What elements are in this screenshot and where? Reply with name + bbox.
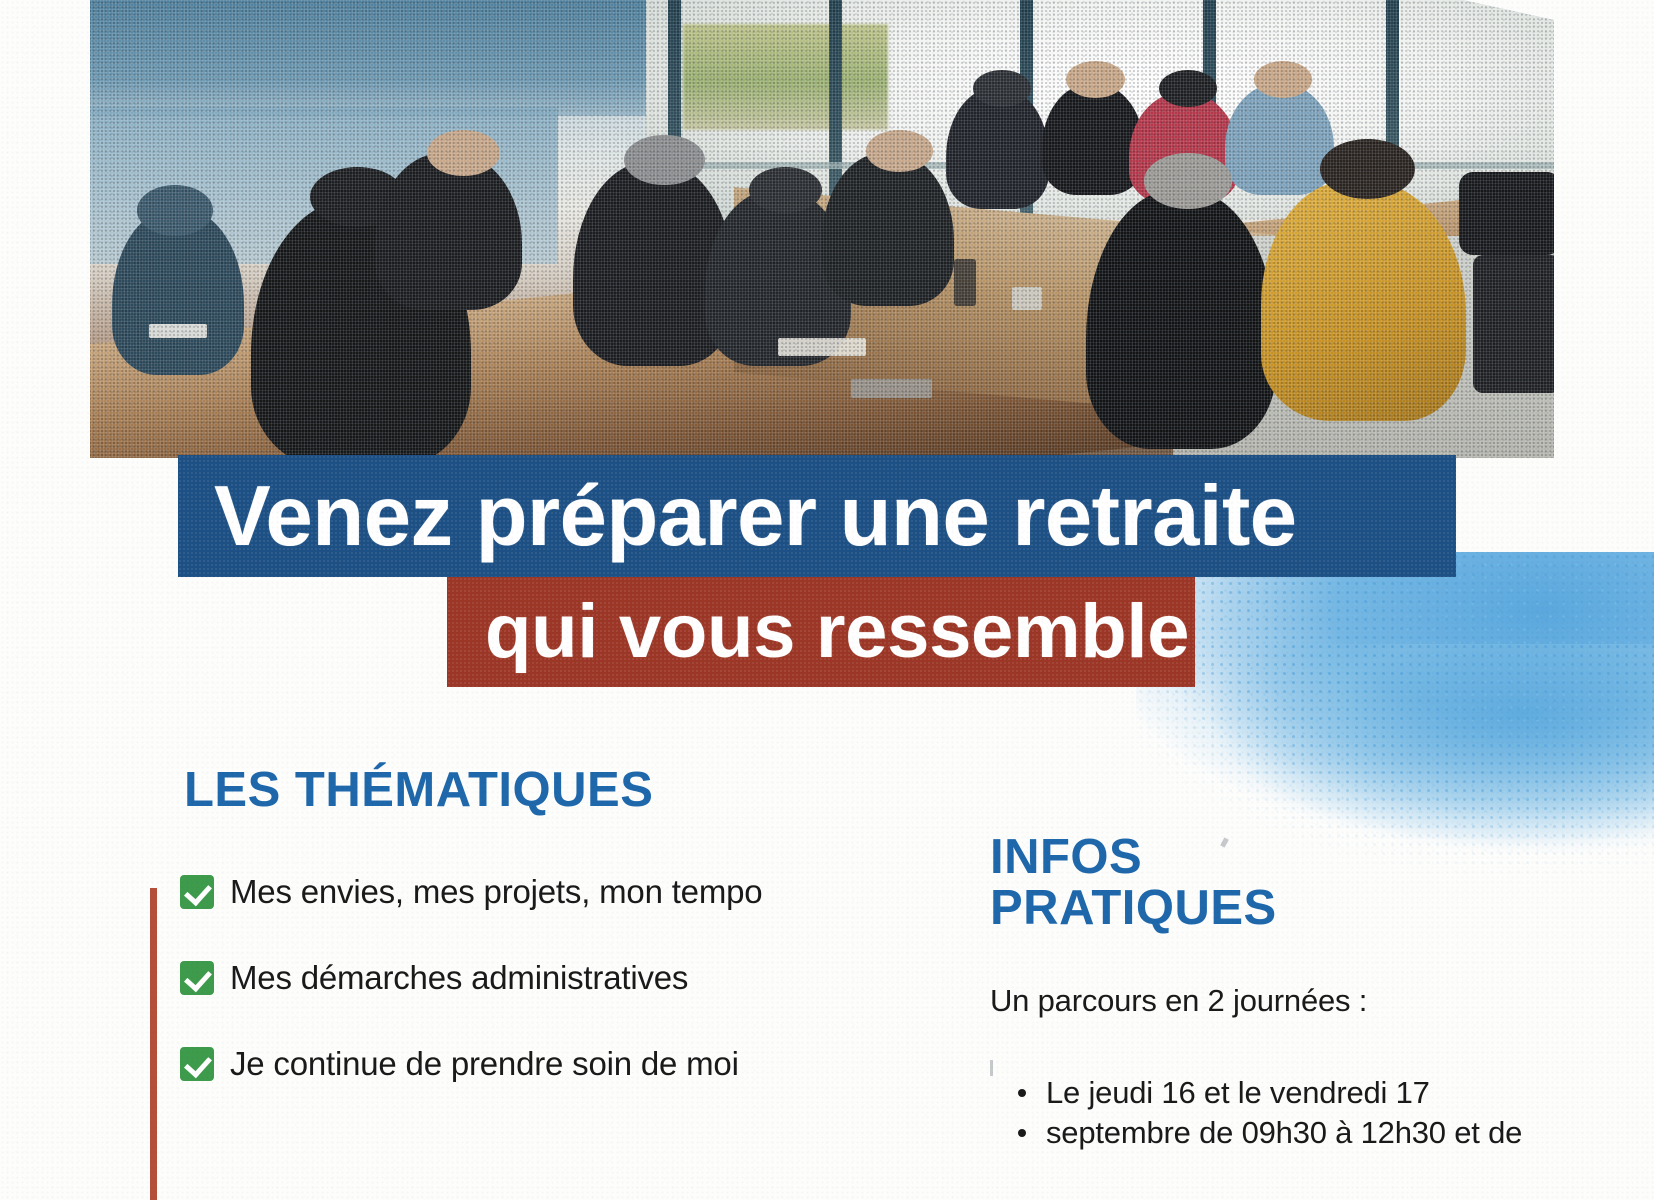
photo-paper	[851, 379, 932, 397]
infos-pratiques-heading-line-1: INFOS	[990, 830, 1142, 884]
photo-person-head	[137, 185, 213, 236]
infos-pratiques-bullet: septembre de 09h30 à 12h30 et de	[1046, 1113, 1610, 1153]
thematique-item: Mes envies, mes projets, mon tempo	[180, 873, 940, 911]
infos-pratiques-bullet: Le jeudi 16 et le vendredi 17	[1046, 1073, 1610, 1113]
infos-pratiques-bullet-list: Le jeudi 16 et le vendredi 17 septembre …	[990, 1073, 1610, 1152]
photo-lawn	[683, 24, 888, 130]
photo-paper	[149, 324, 208, 338]
headline-banner-primary: Venez préparer une retraite	[178, 455, 1456, 577]
infos-pratiques-section: INFOS PRATIQUES Un parcours en 2 journée…	[990, 832, 1610, 1152]
scanned-page: Venez préparer une retraite qui vous res…	[0, 0, 1654, 1200]
checkbox-checked-icon	[180, 875, 214, 909]
photo-person	[1225, 84, 1335, 195]
photo-person	[822, 153, 954, 305]
photo-bottle	[954, 259, 976, 305]
scan-artifact	[990, 1060, 993, 1076]
header-photo	[90, 0, 1554, 458]
thematiques-accent-rule	[150, 888, 157, 1200]
thematiques-heading: LES THÉMATIQUES	[184, 766, 940, 815]
photo-person	[375, 153, 521, 310]
photo-paper	[778, 338, 866, 356]
photo-person-head	[1066, 61, 1125, 98]
photo-person-head	[1144, 153, 1232, 208]
photo-ceiling	[90, 0, 705, 116]
photo-person-head	[973, 70, 1032, 107]
thematique-label: Mes envies, mes projets, mon tempo	[230, 873, 762, 911]
photo-person	[1086, 190, 1276, 449]
thematique-label: Mes démarches administratives	[230, 959, 688, 997]
photo-canvas	[90, 0, 1554, 458]
thematique-item: Mes démarches administratives	[180, 959, 940, 997]
thematique-label: Je continue de prendre soin de moi	[230, 1045, 739, 1083]
headline-line-1: Venez préparer une retraite	[178, 474, 1297, 559]
photo-person-head	[427, 130, 500, 176]
photo-person-head	[624, 135, 705, 186]
infos-pratiques-heading-line-2: PRATIQUES	[990, 881, 1277, 935]
thematiques-section: LES THÉMATIQUES Mes envies, mes projets,…	[180, 766, 940, 1131]
photo-person-head	[1159, 70, 1218, 107]
infos-pratiques-lead: Un parcours en 2 journées :	[990, 983, 1610, 1019]
photo-cup	[1012, 287, 1041, 310]
thematique-item: Je continue de prendre soin de moi	[180, 1045, 940, 1083]
checkbox-checked-icon	[180, 1047, 214, 1081]
photo-person	[1042, 84, 1144, 195]
checkbox-checked-icon	[180, 961, 214, 995]
infos-pratiques-heading: INFOS PRATIQUES	[990, 832, 1610, 935]
photo-person-head	[749, 167, 822, 213]
photo-chair	[1473, 255, 1554, 394]
headline-line-2: qui vous ressemble	[447, 594, 1189, 670]
headline-banner-secondary: qui vous ressemble	[447, 577, 1195, 687]
photo-person-head	[1320, 139, 1415, 199]
photo-person-head	[1254, 61, 1313, 98]
photo-chair	[1459, 172, 1554, 255]
photo-person-head	[866, 130, 933, 172]
